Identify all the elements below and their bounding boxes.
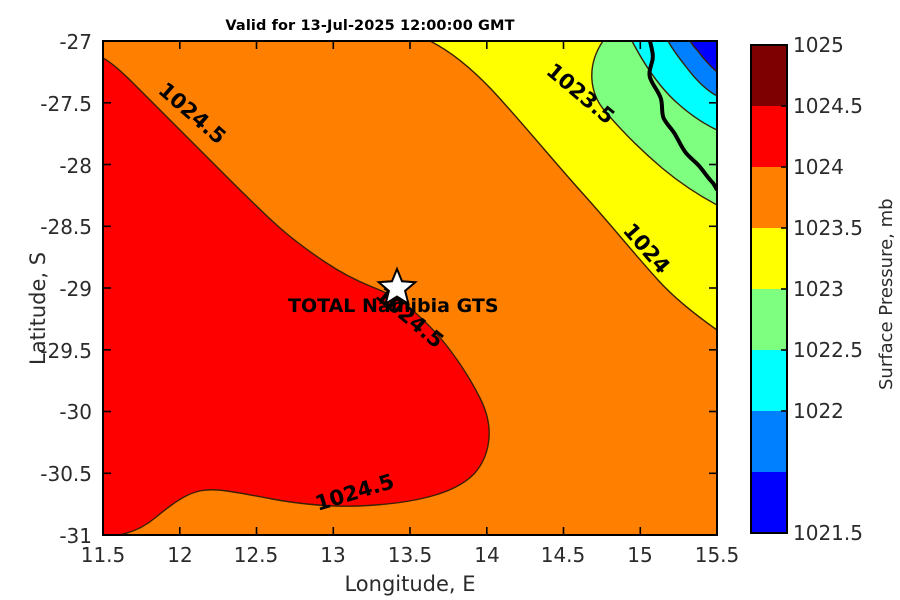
colorbar-swatch-1023_5-1024 (751, 167, 787, 228)
y-tick-3: -28.5 (10, 215, 92, 239)
x-axis-label: Longitude, E (0, 572, 820, 596)
x-tick-6: 14.5 (523, 543, 603, 567)
colorbar-tick-3: 1023.5 (793, 216, 863, 240)
y-tick-2: -28 (10, 154, 92, 178)
x-tick-3: 13 (293, 543, 373, 567)
colorbar (751, 45, 787, 533)
x-tick-1: 12 (140, 543, 220, 567)
colorbar-swatch-1021_5-1022 (751, 411, 787, 472)
colorbar-swatch-1022_5-1023 (751, 289, 787, 350)
colorbar-swatch-below-1021_5 (751, 472, 787, 533)
x-tick-0: 11.5 (63, 543, 143, 567)
colorbar-swatch-1024-1024_5 (751, 106, 787, 167)
colorbar-tick-5: 1022.5 (793, 338, 863, 362)
y-axis-label: Latitude, S (26, 252, 50, 365)
colorbar-tick-4: 1023 (793, 277, 844, 301)
y-tick-5: -29.5 (10, 339, 92, 363)
colorbar-tick-6: 1022 (793, 399, 844, 423)
x-tick-2: 12.5 (216, 543, 296, 567)
x-tick-8: 15.5 (677, 543, 757, 567)
colorbar-tick-2: 1024 (793, 155, 844, 179)
colorbar-tick-1: 1024.5 (793, 94, 863, 118)
colorbar-swatch-1024_5-1025 (751, 45, 787, 106)
y-tick-6: -30 (10, 400, 92, 424)
x-tick-5: 14 (447, 543, 527, 567)
colorbar-tick-7: 1021.5 (793, 521, 863, 545)
colorbar-tick-0: 1025 (793, 33, 844, 57)
y-tick-4: -29 (10, 277, 92, 301)
x-tick-7: 15 (600, 543, 680, 567)
colorbar-swatch-1022-1022_5 (751, 350, 787, 411)
x-tick-4: 13.5 (370, 543, 450, 567)
y-tick-7: -30.5 (10, 462, 92, 486)
colorbar-swatch-1023-1023_5 (751, 228, 787, 289)
colorbar-label: Surface Pressure, mb (876, 198, 897, 390)
contour-plot: 1024.5 1023.5 1024 1024.5 1024.5 TOTAL N… (0, 0, 900, 600)
y-tick-1: -27.5 (10, 92, 92, 116)
y-tick-0: -27 (10, 30, 92, 54)
